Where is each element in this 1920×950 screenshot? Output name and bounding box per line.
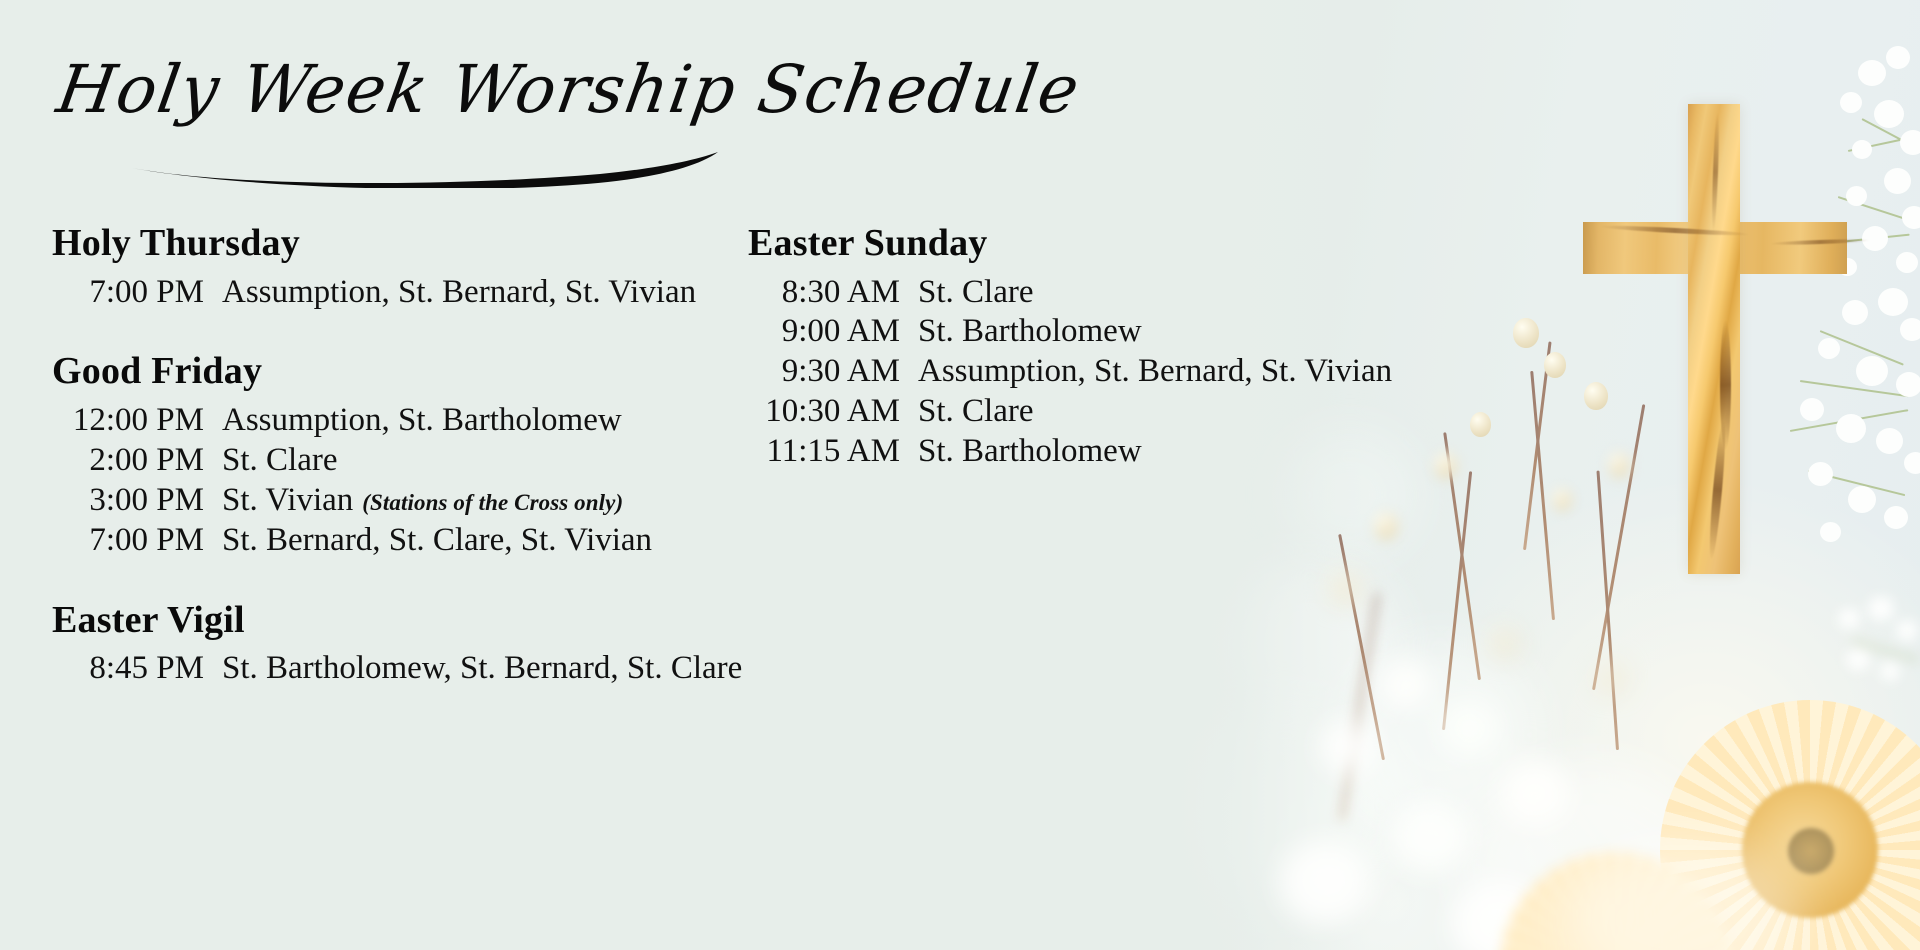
service-row: 2:00 PMSt. Clare [52,441,752,481]
service-locations: St. Clare [900,273,1033,313]
service-list: 8:45 PMSt. Bartholomew, St. Bernard, St.… [52,649,752,689]
service-time: 9:00 AM [748,312,900,352]
service-row: 9:00 AMSt. Bartholomew [748,312,1448,352]
schedule-column-left: Holy Thursday7:00 PMAssumption, St. Bern… [52,222,752,689]
service-locations: Assumption, St. Bernard, St. Vivian [900,352,1392,392]
title-underline-swoosh [130,144,730,188]
day-heading: Easter Sunday [748,222,1448,265]
service-row: 3:00 PMSt. Vivian(Stations of the Cross … [52,481,752,521]
service-row: 10:30 AMSt. Clare [748,392,1448,432]
service-locations: St. Bernard, St. Clare, St. Vivian [204,521,652,561]
service-locations: St. Clare [900,392,1033,432]
service-locations: St. Bartholomew [900,312,1142,352]
service-time: 7:00 PM [52,521,204,561]
service-list: 12:00 PMAssumption, St. Bartholomew2:00 … [52,401,752,561]
service-locations: St. Bartholomew [900,432,1142,472]
service-row: 7:00 PMSt. Bernard, St. Clare, St. Vivia… [52,521,752,561]
service-locations: Assumption, St. Bernard, St. Vivian [204,273,696,313]
service-time: 3:00 PM [52,481,204,521]
service-locations: St. Bartholomew, St. Bernard, St. Clare [204,649,742,689]
page-title: Holy Week Worship Schedule [52,52,884,128]
schedule-column-right: Easter Sunday8:30 AMSt. Clare9:00 AMSt. … [748,222,1448,472]
photo-left-fade [1160,0,1370,950]
service-time: 9:30 AM [748,352,900,392]
service-locations: Assumption, St. Bartholomew [204,401,622,441]
service-row: 8:30 AMSt. Clare [748,273,1448,313]
page-title-block: Holy Week Worship Schedule [52,52,872,128]
holy-week-schedule-poster: Holy Week Worship Schedule Holy Thursday… [0,0,1920,950]
service-time: 2:00 PM [52,441,204,481]
service-time: 8:45 PM [52,649,204,689]
day-heading: Good Friday [52,350,752,393]
service-row: 11:15 AMSt. Bartholomew [748,432,1448,472]
day-heading: Easter Vigil [52,599,752,642]
section-gap [52,312,752,350]
service-note: (Stations of the Cross only) [353,489,623,517]
service-row: 12:00 PMAssumption, St. Bartholomew [52,401,752,441]
service-time: 8:30 AM [748,273,900,313]
service-row: 8:45 PMSt. Bartholomew, St. Bernard, St.… [52,649,752,689]
service-list: 7:00 PMAssumption, St. Bernard, St. Vivi… [52,273,752,313]
service-list: 8:30 AMSt. Clare9:00 AMSt. Bartholomew9:… [748,273,1448,473]
section-gap [52,561,752,599]
service-row: 7:00 PMAssumption, St. Bernard, St. Vivi… [52,273,752,313]
day-heading: Holy Thursday [52,222,752,265]
service-locations: St. Vivian [204,481,353,521]
service-time: 7:00 PM [52,273,204,313]
service-time: 10:30 AM [748,392,900,432]
service-time: 11:15 AM [748,432,900,472]
service-locations: St. Clare [204,441,337,481]
service-row: 9:30 AMAssumption, St. Bernard, St. Vivi… [748,352,1448,392]
service-time: 12:00 PM [52,401,204,441]
